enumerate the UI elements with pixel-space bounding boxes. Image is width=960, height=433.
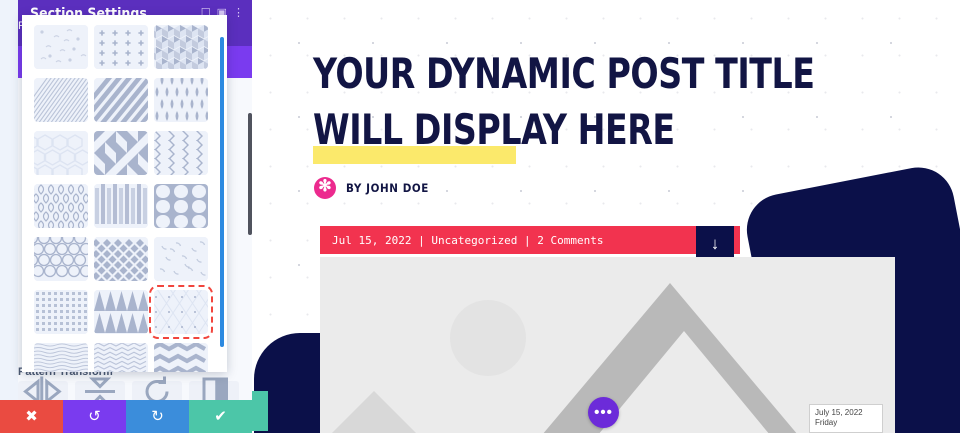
- byline-label: BY JOHN DOE: [346, 181, 429, 195]
- byline[interactable]: ✻ BY JOHN DOE: [314, 177, 429, 199]
- undo-button[interactable]: ↺: [63, 400, 126, 433]
- image-options-button[interactable]: •••: [588, 397, 619, 428]
- pattern-swatch-triangle-mosaic[interactable]: [94, 131, 148, 175]
- screen: YOUR DYNAMIC POST TITLE WILL DISPLAY HER…: [0, 0, 960, 433]
- pattern-swatch-moroccan[interactable]: [34, 184, 88, 228]
- pattern-swatch-interlock[interactable]: [34, 237, 88, 281]
- panel-scrollbar[interactable]: [248, 113, 252, 235]
- pattern-swatch-hexagons[interactable]: [34, 131, 88, 175]
- save-button[interactable]: ✔: [189, 400, 252, 433]
- rotate-icon[interactable]: [132, 381, 182, 402]
- pattern-swatch-crescents[interactable]: [154, 237, 208, 281]
- panel-left-strip: [0, 0, 18, 433]
- post-preview-canvas[interactable]: YOUR DYNAMIC POST TITLE WILL DISPLAY HER…: [252, 0, 960, 433]
- teal-decor-sliver: [252, 391, 268, 431]
- date-chip-weekday: Friday: [815, 418, 877, 428]
- pattern-swatch-bold-diagonal[interactable]: [94, 78, 148, 122]
- pattern-swatch-grid[interactable]: [34, 25, 208, 372]
- pattern-swatch-chevron-arrows[interactable]: [154, 131, 208, 175]
- pattern-swatch-confetti[interactable]: [34, 25, 88, 69]
- scroll-down-arrow-icon[interactable]: ↓: [696, 226, 734, 260]
- pattern-swatch-wavy-lines[interactable]: [34, 343, 88, 372]
- placeholder-mountain-small-icon: [330, 391, 418, 433]
- page-title[interactable]: YOUR DYNAMIC POST TITLE WILL DISPLAY HER…: [313, 46, 806, 158]
- placeholder-sun-icon: [450, 300, 526, 376]
- pattern-swatch-capsules[interactable]: [154, 184, 208, 228]
- pattern-swatch-cubes[interactable]: [154, 25, 208, 69]
- pattern-swatch-square-dots[interactable]: [34, 290, 88, 334]
- invert-icon[interactable]: [189, 381, 239, 402]
- pattern-swatch-cross-weave[interactable]: [94, 237, 148, 281]
- post-meta-text: Jul 15, 2022 | Uncategorized | 2 Comment…: [320, 234, 604, 247]
- featured-image-placeholder[interactable]: ••• July 15, 2022 Friday: [320, 257, 895, 433]
- pattern-swatch-diamonds[interactable]: [154, 78, 208, 122]
- pattern-swatch-tufted[interactable]: [154, 290, 208, 334]
- date-chip-date: July 15, 2022: [815, 408, 877, 418]
- pattern-swatch-fine-zigzag[interactable]: [94, 343, 148, 372]
- placeholder-mountain-notch-icon: [598, 331, 770, 433]
- pattern-swatch-fine-diagonal[interactable]: [34, 78, 88, 122]
- title-line-1: YOUR DYNAMIC POST TITLE: [313, 46, 806, 102]
- date-chip: July 15, 2022 Friday: [809, 404, 883, 433]
- dropdown-scrollbar[interactable]: [220, 37, 224, 347]
- pattern-swatch-triangles[interactable]: [94, 290, 148, 334]
- pattern-swatch-plus-grid[interactable]: [94, 25, 148, 69]
- flip-vertical-icon[interactable]: [75, 381, 125, 402]
- redo-button[interactable]: ↻: [126, 400, 189, 433]
- panel-action-bar[interactable]: ✖ ↺ ↻ ✔: [0, 400, 252, 433]
- flip-horizontal-icon[interactable]: [18, 381, 68, 402]
- pattern-picker-dropdown[interactable]: [22, 15, 227, 372]
- pattern-swatch-bold-zigzag[interactable]: [154, 343, 208, 372]
- cancel-button[interactable]: ✖: [0, 400, 63, 433]
- pattern-swatch-piano-keys[interactable]: [94, 184, 148, 228]
- post-meta-bar[interactable]: Jul 15, 2022 | Uncategorized | 2 Comment…: [320, 226, 740, 254]
- author-avatar-icon: ✻: [314, 177, 336, 199]
- title-line-2: WILL DISPLAY HERE: [313, 102, 806, 158]
- pattern-transform-controls[interactable]: [18, 381, 239, 402]
- more-options-icon[interactable]: ⋮: [233, 6, 244, 20]
